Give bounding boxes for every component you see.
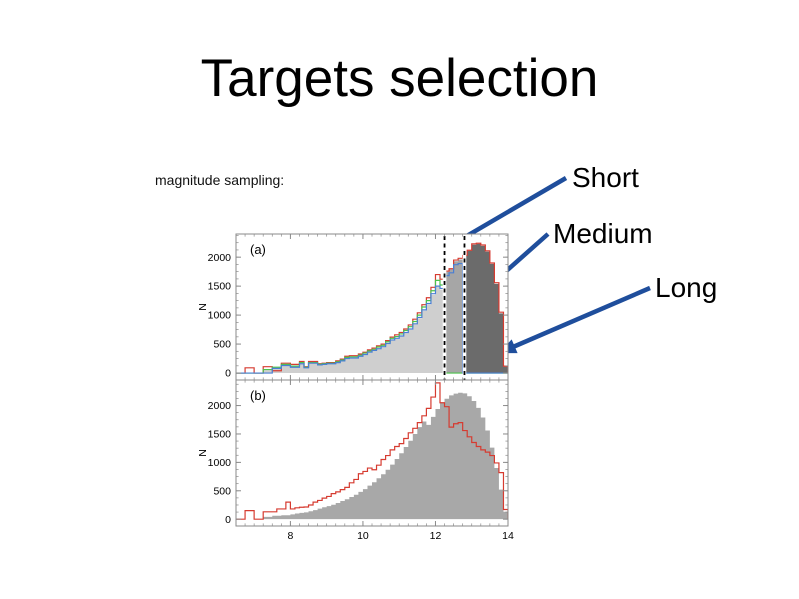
- annotation-label-short: Short: [572, 162, 639, 194]
- ytick-label: 500: [213, 485, 231, 497]
- annotation-label-long: Long: [655, 272, 717, 304]
- ytick-label: 1500: [208, 281, 232, 293]
- panel-label-a: (a): [250, 242, 266, 257]
- ytick-label: 500: [213, 339, 231, 351]
- y-axis-label: N: [197, 303, 209, 311]
- ytick-label: 0: [225, 514, 231, 526]
- ytick-label: 0: [225, 368, 231, 380]
- ytick-label: 1000: [208, 457, 232, 469]
- xtick-label: 8: [287, 530, 293, 540]
- panel-a: 0500100015002000(a)N: [197, 234, 508, 380]
- arrow-long: [499, 288, 650, 353]
- ytick-label: 2000: [208, 252, 232, 264]
- xtick-label: 14: [502, 530, 514, 540]
- panel-b: 0500100015002000(b)N: [197, 380, 508, 526]
- slide-canvas: Targets selection magnitude sampling: Sh…: [0, 0, 799, 599]
- panel-label-b: (b): [250, 388, 266, 403]
- ytick-label: 2000: [208, 400, 232, 412]
- page-title: Targets selection: [0, 48, 799, 109]
- xtick-label: 12: [430, 530, 442, 540]
- annotation-label-medium: Medium: [553, 218, 653, 250]
- xtick-label: 10: [357, 530, 369, 540]
- ytick-label: 1000: [208, 310, 232, 322]
- ytick-label: 1500: [208, 429, 232, 441]
- y-axis-label: N: [197, 449, 209, 457]
- magnitude-sampling-caption: magnitude sampling:: [155, 172, 284, 188]
- histogram-figure: 0500100015002000(a)N0500100015002000(b)N…: [196, 228, 516, 540]
